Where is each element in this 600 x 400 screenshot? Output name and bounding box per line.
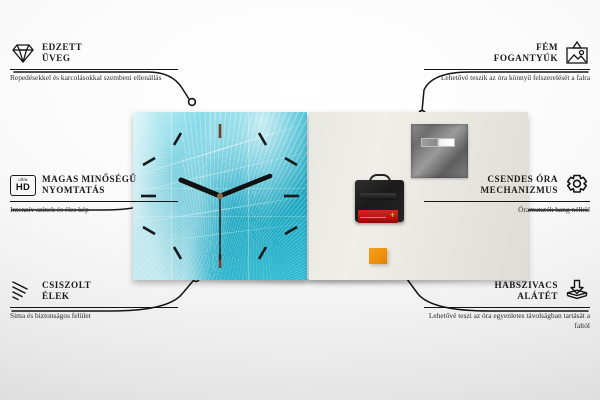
feature-title: HABSZIVACS ALÁTÉT	[494, 280, 558, 303]
ultra-hd-badge-icon: ultra HD	[10, 172, 36, 198]
hanger-slot	[421, 138, 455, 147]
mechanism-ridge	[360, 193, 396, 200]
metal-hanger-part	[411, 124, 468, 178]
feature-divider	[10, 201, 178, 203]
battery-plus-label: +	[390, 211, 395, 220]
feature-description: Lehetővé teszik az óra könnyű felszerelé…	[424, 73, 590, 82]
battery-part: +	[358, 210, 398, 223]
picture-frame-hanger-icon	[564, 40, 590, 66]
feature-header: FÉM FOGANTYÚK	[424, 40, 590, 66]
feature-description: Repedésekkel és karcolásokkal szembeni e…	[10, 73, 178, 82]
feature-title: CSISZOLT ÉLEK	[42, 280, 91, 303]
feature-divider	[424, 201, 590, 203]
feature-title: EDZETT ÜVEG	[42, 42, 82, 65]
ultra-hd-large-label: HD	[16, 183, 30, 193]
feature-header: CSISZOLT ÉLEK	[10, 278, 178, 304]
feature-metal-handles: FÉM FOGANTYÚK Lehetővé teszik az óra kön…	[424, 40, 590, 83]
feature-title: CSENDES ÓRA MECHANIZMUS	[481, 174, 558, 197]
diagonal-lines-icon	[10, 278, 36, 304]
feature-divider	[10, 307, 178, 309]
feature-header: CSENDES ÓRA MECHANIZMUS	[424, 172, 590, 198]
feature-description: Lehetővé teszi az óra egyenletes távolsá…	[424, 311, 590, 330]
arrow-down-onto-pad-icon	[564, 278, 590, 304]
feature-divider	[424, 69, 590, 71]
feature-foam-pad: HABSZIVACS ALÁTÉT Lehetővé teszi az óra …	[424, 278, 590, 330]
product-feature-infographic: + EDZETT	[0, 0, 600, 400]
feature-description: Óramutatók hang nélkül	[424, 205, 590, 214]
clock-mechanism-part: +	[355, 174, 404, 222]
gear-icon	[564, 172, 590, 198]
feature-silent-clock-mechanism: CSENDES ÓRA MECHANIZMUS Óramutatók hang …	[424, 172, 590, 215]
feature-header: ultra HD MAGAS MINŐSÉGŰ NYOMTATÁS	[10, 172, 178, 198]
feature-high-quality-print: ultra HD MAGAS MINŐSÉGŰ NYOMTATÁS Intenz…	[10, 172, 178, 215]
hands-center-cap	[217, 193, 223, 199]
foam-pad-part	[369, 248, 387, 264]
minute-hand	[220, 176, 270, 196]
callout-dot-tempered-glass	[189, 99, 196, 106]
feature-description: Intenzív színek és éles kép	[10, 205, 178, 214]
feature-divider	[424, 307, 590, 309]
feature-divider	[10, 69, 178, 71]
feature-description: Sima és biztonságos felület	[10, 311, 178, 320]
feature-header: HABSZIVACS ALÁTÉT	[424, 278, 590, 304]
hour-hand	[181, 180, 220, 196]
mechanism-body: +	[355, 180, 404, 222]
feature-polished-edges: CSISZOLT ÉLEK Sima és biztonságos felüle…	[10, 278, 178, 321]
battery-stripe	[360, 217, 386, 218]
feature-tempered-glass: EDZETT ÜVEG Repedésekkel és karcolásokka…	[10, 40, 178, 83]
diamond-icon	[10, 40, 36, 66]
feature-title: MAGAS MINŐSÉGŰ NYOMTATÁS	[42, 174, 137, 197]
feature-header: EDZETT ÜVEG	[10, 40, 178, 66]
feature-title: FÉM FOGANTYÚK	[494, 42, 558, 65]
